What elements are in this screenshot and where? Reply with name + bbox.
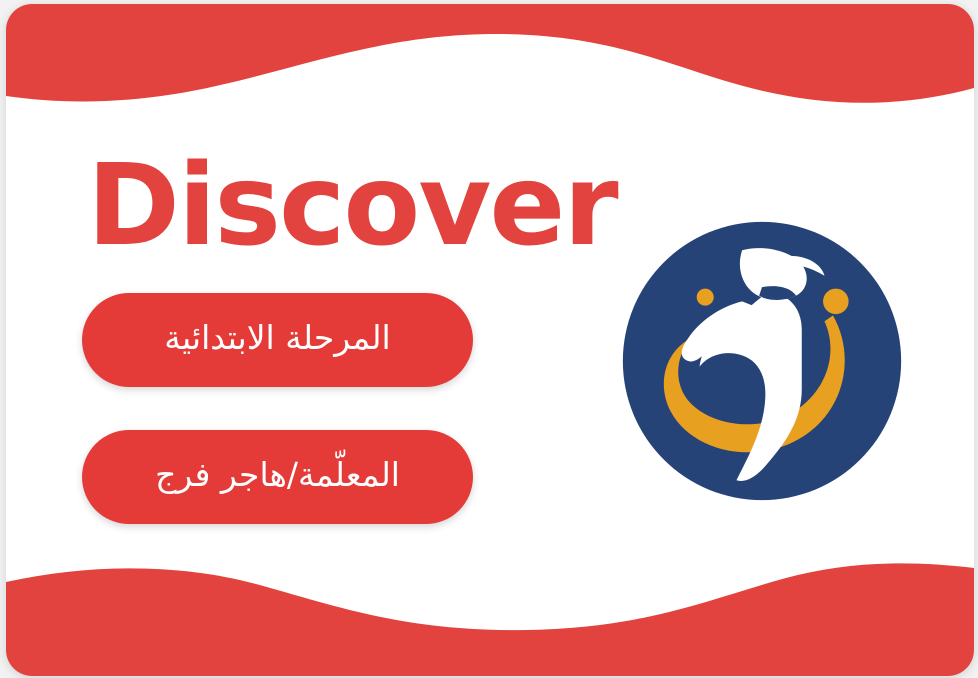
teacher-pill-button[interactable]: المعلّمة/هاجر فرج	[82, 430, 473, 524]
school-emblem-icon	[620, 219, 904, 503]
teacher-pill-label: المعلّمة/هاجر فرج	[155, 455, 400, 495]
card-content: Discover المرحلة الابتدائية المعلّمة/هاج…	[6, 4, 974, 676]
page-title: Discover	[87, 150, 617, 262]
stage-pill-label: المرحلة الابتدائية	[164, 318, 390, 358]
logo-accent-dot-right	[823, 289, 849, 315]
logo-accent-dot-left	[697, 289, 714, 306]
presentation-card: Discover المرحلة الابتدائية المعلّمة/هاج…	[6, 4, 974, 676]
stage-pill-button[interactable]: المرحلة الابتدائية	[82, 293, 473, 387]
school-emblem-logo	[620, 219, 904, 503]
